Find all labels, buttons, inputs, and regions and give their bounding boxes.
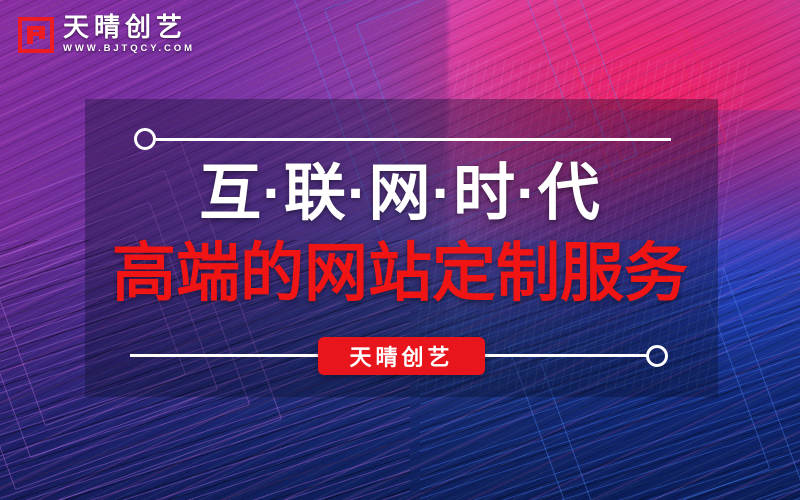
- hero-subheadline: 高端的网站定制服务: [0, 240, 800, 307]
- logo-website-url: WWW.BJTQCY.COM: [63, 43, 195, 55]
- logo-company-name: 天晴创艺: [63, 14, 195, 41]
- circle-outline-top: [134, 128, 156, 150]
- divider-rule-bottom-left: [130, 354, 320, 357]
- hero-headline: 互·联·网·时·代: [0, 161, 800, 228]
- brand-badge[interactable]: 天晴创艺: [318, 337, 485, 375]
- square-monogram-icon: [18, 17, 54, 53]
- divider-rule-top: [156, 138, 671, 141]
- circle-outline-bottom: [646, 345, 668, 367]
- divider-rule-bottom-right: [484, 354, 649, 357]
- logo-text-block: 天晴创艺 WWW.BJTQCY.COM: [63, 14, 195, 56]
- promo-banner: 天晴创艺 WWW.BJTQCY.COM 互·联·网·时·代 高端的网站定制服务 …: [0, 0, 800, 500]
- brand-logo[interactable]: 天晴创艺 WWW.BJTQCY.COM: [18, 14, 195, 56]
